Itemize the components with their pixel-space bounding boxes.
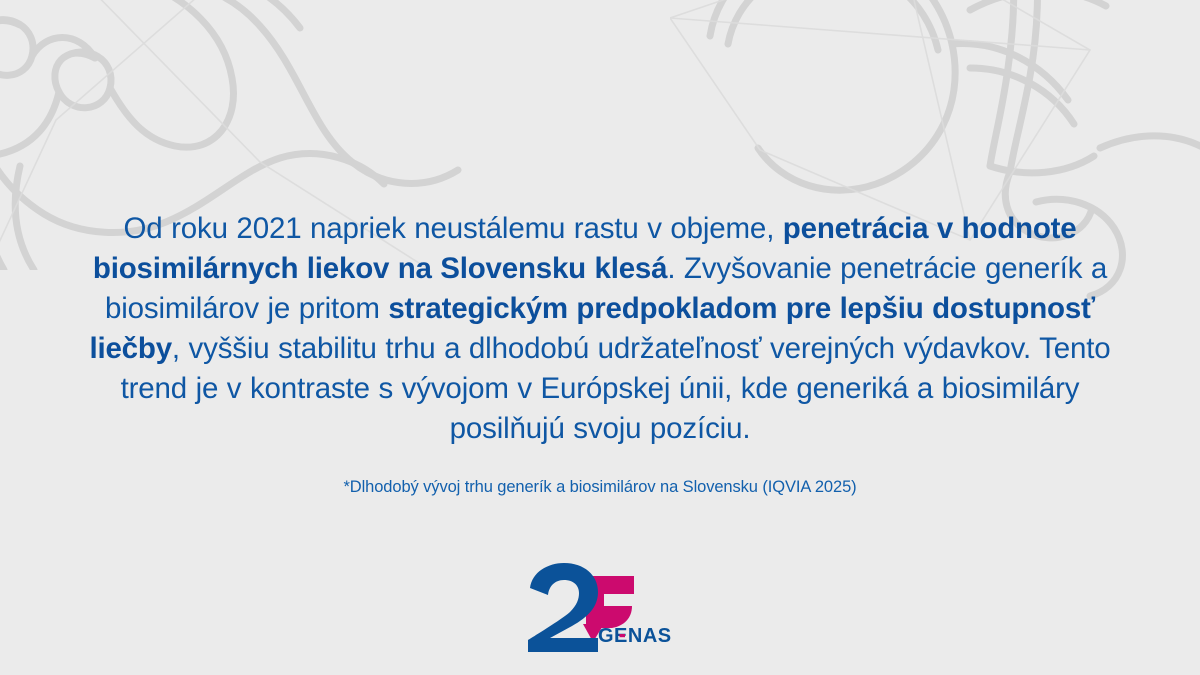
genas-anniversary-logo: GENAS <box>520 562 680 652</box>
genas-logo-graphic: GENAS <box>520 562 680 652</box>
headline-text: Od roku 2021 napriek neustálemu rastu v … <box>124 212 783 245</box>
headline-paragraph: Od roku 2021 napriek neustálemu rastu v … <box>64 209 1136 449</box>
footnote-source: *Dlhodobý vývoj trhu generík a biosimilá… <box>150 476 1050 498</box>
logo-wordmark: GENAS <box>598 625 672 647</box>
logo-accent-dot <box>620 634 626 637</box>
slide-canvas: Od roku 2021 napriek neustálemu rastu v … <box>0 0 1200 675</box>
logo-digit-two <box>528 563 598 652</box>
slide-content: Od roku 2021 napriek neustálemu rastu v … <box>0 0 1200 675</box>
logo-brand-text: GENAS <box>598 625 672 647</box>
headline-text: , vyššiu stabilitu trhu a dlhodobú udrža… <box>121 332 1111 445</box>
